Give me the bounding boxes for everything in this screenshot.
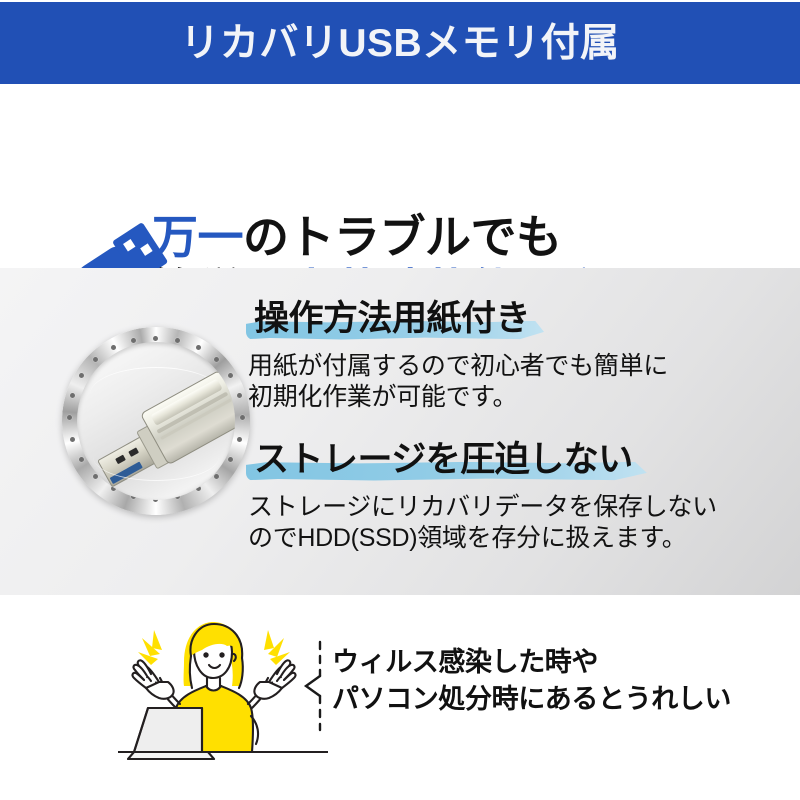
bottom-line-1: ウィルス感染した時や (332, 644, 731, 681)
feature-1-heading: 操作方法用紙付き (248, 300, 536, 339)
headline-line-1: 万一のトラブルでも (152, 210, 792, 264)
feature-2-body-line-2: のでHDD(SSD)領域を存分に扱えます。 (248, 523, 717, 554)
feature-2-body-line-1: ストレージにリカバリデータを保存しない (248, 492, 717, 523)
headline-section: 万一のトラブルでも 簡単に出荷時状態に戻せます (0, 84, 800, 268)
header-banner: リカバリUSBメモリ付属 (0, 2, 800, 84)
banner-title: リカバリUSBメモリ付属 (180, 24, 619, 63)
bottom-text-block: ウィルス感染した時や パソコン処分時にあるとうれしい (332, 644, 731, 719)
feature-item-2: ストレージを圧迫しない ストレージにリカバリデータを保存しない のでHDD(SS… (248, 441, 717, 554)
promo-page: リカバリUSBメモリ付属 万一のトラブルでも 簡単に出荷時状態に戻せます (0, 0, 800, 800)
usb-photo-badge (62, 327, 250, 515)
feature-1-heading-text: 操作方法用紙付き (254, 299, 530, 338)
feature-2-heading-text: ストレージを圧迫しない (254, 440, 633, 479)
feature-1-body-line-2: 初期化作業が可能です。 (248, 382, 668, 413)
bottom-line-2: パソコン処分時にあるとうれしい (332, 681, 731, 718)
headline-line-1-rest: のトラブルでも (243, 211, 562, 263)
woman-at-laptop-illustration (118, 612, 328, 762)
feature-1-body-line-1: 用紙が付属するので初心者でも簡単に (248, 351, 668, 382)
badge-inner-surface (77, 342, 235, 500)
dashed-brace (300, 640, 330, 732)
feature-item-1: 操作方法用紙付き 用紙が付属するので初心者でも簡単に 初期化作業が可能です。 (248, 300, 668, 413)
feature-2-heading: ストレージを圧迫しない (248, 441, 639, 480)
headline-line-1-accent: 万一 (152, 211, 243, 263)
